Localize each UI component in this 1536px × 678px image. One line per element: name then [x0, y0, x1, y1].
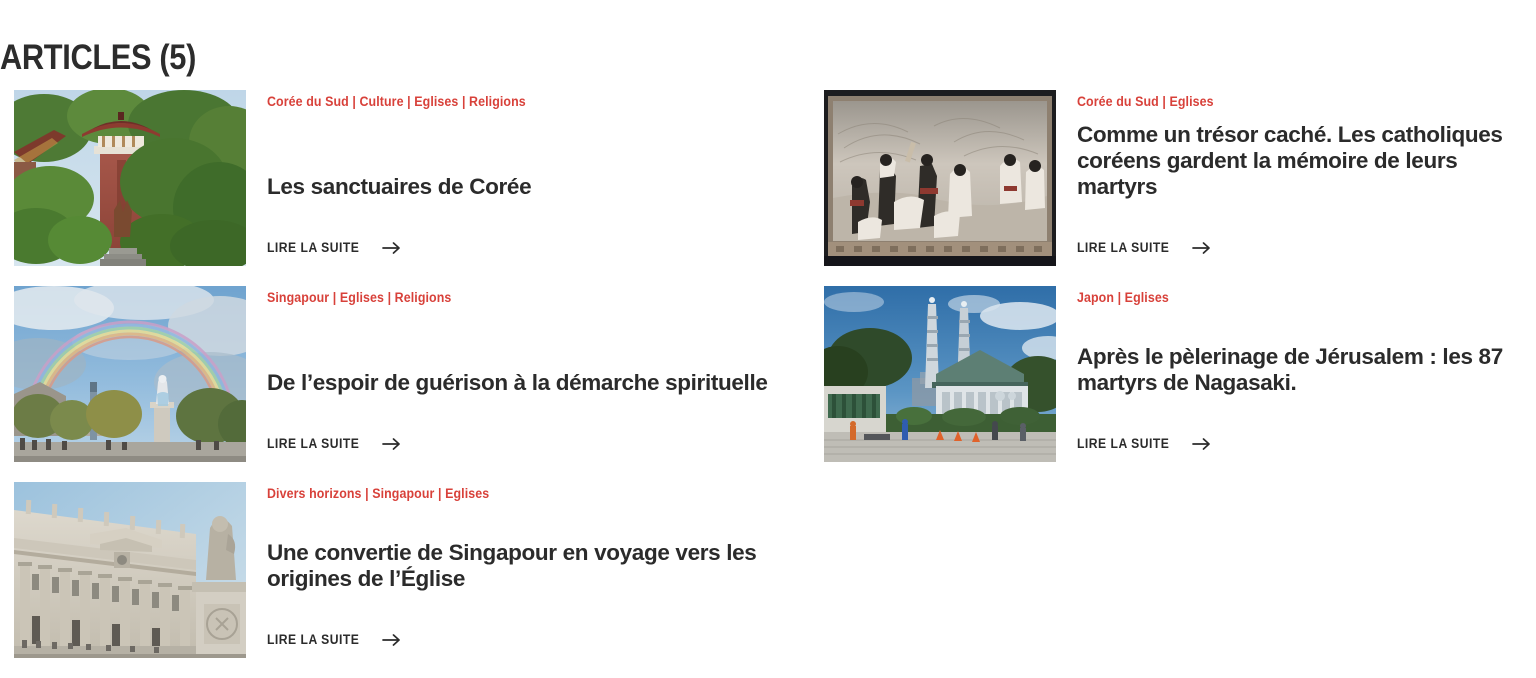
article-title[interactable]: Comme un trésor caché. Les catholiques c… — [1077, 122, 1520, 200]
arrow-right-icon — [1192, 241, 1211, 255]
korean-shrine-pagoda-photo — [14, 90, 246, 266]
article-body: Divers horizons | Singapour | Eglises Un… — [246, 482, 810, 658]
article-body: Japon | Eglises Après le pèlerinage de J… — [1056, 286, 1520, 462]
article-categories[interactable]: Corée du Sud | Eglises — [1077, 90, 1485, 110]
article-title[interactable]: Après le pèlerinage de Jérusalem : les 8… — [1077, 344, 1520, 396]
article-title[interactable]: Les sanctuaires de Corée — [267, 174, 810, 200]
read-more-label: LIRE LA SUITE — [1077, 240, 1169, 255]
article-categories[interactable]: Corée du Sud | Culture | Eglises | Relig… — [267, 90, 767, 110]
arrow-right-icon — [382, 633, 401, 647]
article-body: Singapour | Eglises | Religions De l’esp… — [246, 286, 810, 462]
article-thumbnail-nagasaki-martyrs-museum-photo[interactable] — [824, 286, 1056, 462]
article-card[interactable]: Singapour | Eglises | Religions De l’esp… — [14, 286, 810, 482]
article-body: Corée du Sud | Eglises Comme un trésor c… — [1056, 90, 1520, 266]
article-body: Corée du Sud | Culture | Eglises | Relig… — [246, 90, 810, 266]
arrow-right-icon — [1192, 437, 1211, 451]
article-categories[interactable]: Divers horizons | Singapour | Eglises — [267, 482, 767, 502]
article-thumbnail-korean-shrine-pagoda-photo[interactable] — [14, 90, 246, 266]
arrow-right-icon — [382, 437, 401, 451]
rainbow-over-sanctuary-photo — [14, 286, 246, 462]
article-title[interactable]: Une convertie de Singapour en voyage ver… — [267, 540, 810, 592]
article-title[interactable]: De l’espoir de guérison à la démarche sp… — [267, 370, 810, 396]
read-more-link[interactable]: LIRE LA SUITE — [1077, 240, 1211, 255]
page-title: ARTICLES (5) — [0, 37, 196, 79]
read-more-label: LIRE LA SUITE — [267, 240, 359, 255]
nagasaki-martyrs-museum-photo — [824, 286, 1056, 462]
st-peters-basilica-photo — [14, 482, 246, 658]
article-thumbnail-st-peters-basilica-photo[interactable] — [14, 482, 246, 658]
article-card[interactable]: Corée du Sud | Eglises Comme un trésor c… — [824, 90, 1520, 286]
article-card[interactable]: Japon | Eglises Après le pèlerinage de J… — [824, 286, 1520, 482]
article-categories[interactable]: Singapour | Eglises | Religions — [267, 286, 767, 306]
articles-page: ARTICLES (5) — [0, 0, 1536, 678]
read-more-label: LIRE LA SUITE — [267, 436, 359, 451]
empty-grid-cell — [824, 482, 1520, 678]
read-more-link[interactable]: LIRE LA SUITE — [267, 436, 401, 451]
korean-martyrs-mural-photo — [824, 90, 1056, 266]
article-thumbnail-rainbow-over-sanctuary-photo[interactable] — [14, 286, 246, 462]
read-more-link[interactable]: LIRE LA SUITE — [267, 632, 401, 647]
article-thumbnail-korean-martyrs-mural-photo[interactable] — [824, 90, 1056, 266]
read-more-link[interactable]: LIRE LA SUITE — [1077, 436, 1211, 451]
read-more-label: LIRE LA SUITE — [1077, 436, 1169, 451]
articles-grid: Corée du Sud | Culture | Eglises | Relig… — [14, 90, 1522, 678]
read-more-label: LIRE LA SUITE — [267, 632, 359, 647]
article-card[interactable]: Corée du Sud | Culture | Eglises | Relig… — [14, 90, 810, 286]
read-more-link[interactable]: LIRE LA SUITE — [267, 240, 401, 255]
arrow-right-icon — [382, 241, 401, 255]
article-card[interactable]: Divers horizons | Singapour | Eglises Un… — [14, 482, 810, 678]
article-categories[interactable]: Japon | Eglises — [1077, 286, 1485, 306]
